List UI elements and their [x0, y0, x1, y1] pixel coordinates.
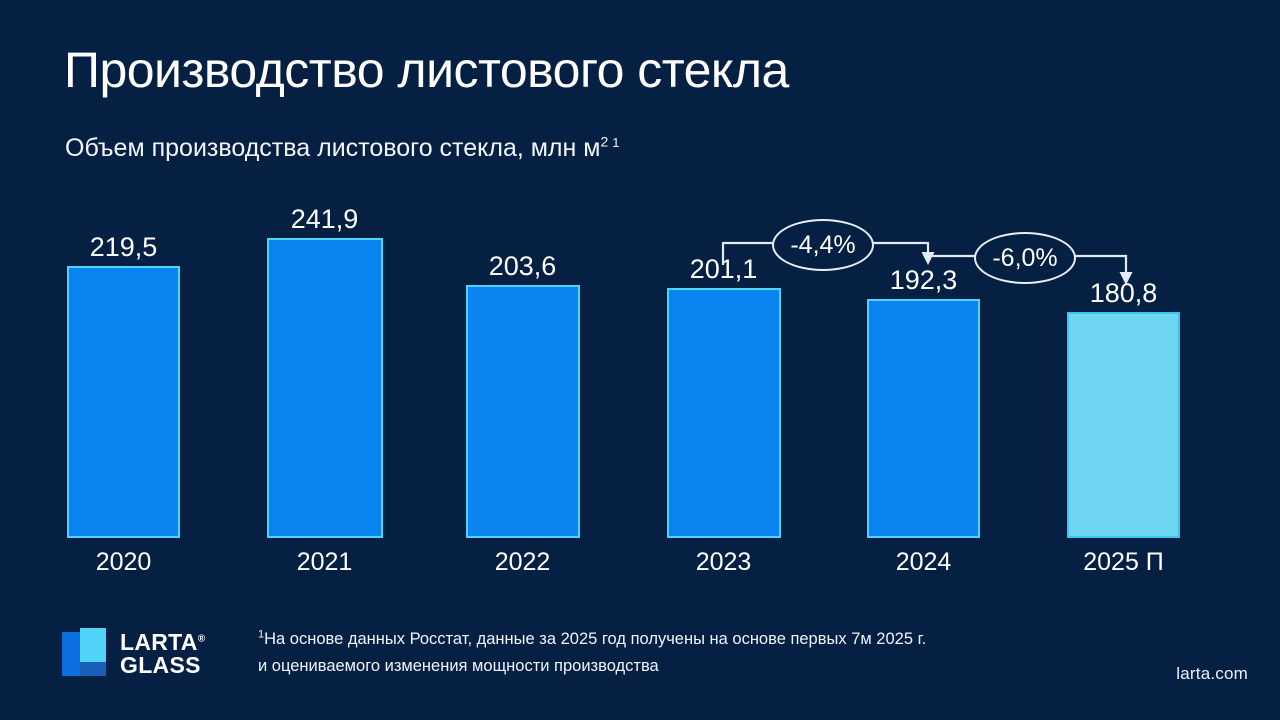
registered-trademark-icon: ®	[198, 633, 206, 644]
brand-logo-text: LARTA® GLASS	[120, 631, 205, 677]
connector-line-right-1	[868, 243, 928, 258]
brand-logo-line1: LARTA®	[120, 631, 205, 654]
logo-square-light	[80, 628, 106, 662]
callout-change-label-2: -6,0%	[992, 244, 1057, 273]
connector-line-right-2	[1070, 256, 1126, 278]
annotation-connectors	[0, 0, 1280, 720]
website-url[interactable]: larta.com	[1176, 664, 1248, 684]
connector-arrowhead-1	[922, 252, 935, 265]
callout-change-label-1: -4,4%	[790, 231, 855, 260]
bar-chart: 219,5 241,9 203,6 201,1 192,3 180,8 2020…	[0, 0, 1280, 720]
slide-root: Производство листового стекла Объем прои…	[0, 0, 1280, 720]
brand-logo: LARTA® GLASS	[62, 628, 205, 680]
connector-arrowhead-2	[1120, 272, 1133, 285]
callout-change-2024-2025[interactable]: -6,0%	[974, 232, 1076, 284]
footnote-text-1: На основе данных Росстат, данные за 2025…	[264, 630, 926, 648]
footnote: 1На основе данных Росстат, данные за 202…	[258, 626, 1178, 680]
logo-square-mid	[80, 662, 106, 676]
larta-glass-logo-icon	[62, 628, 108, 680]
brand-logo-line2: GLASS	[120, 654, 205, 677]
footnote-line-1: 1На основе данных Росстат, данные за 202…	[258, 626, 1178, 653]
callout-change-2023-2024[interactable]: -4,4%	[772, 219, 874, 271]
footnote-text-2: и оцениваемого изменения мощности произв…	[258, 653, 1178, 680]
